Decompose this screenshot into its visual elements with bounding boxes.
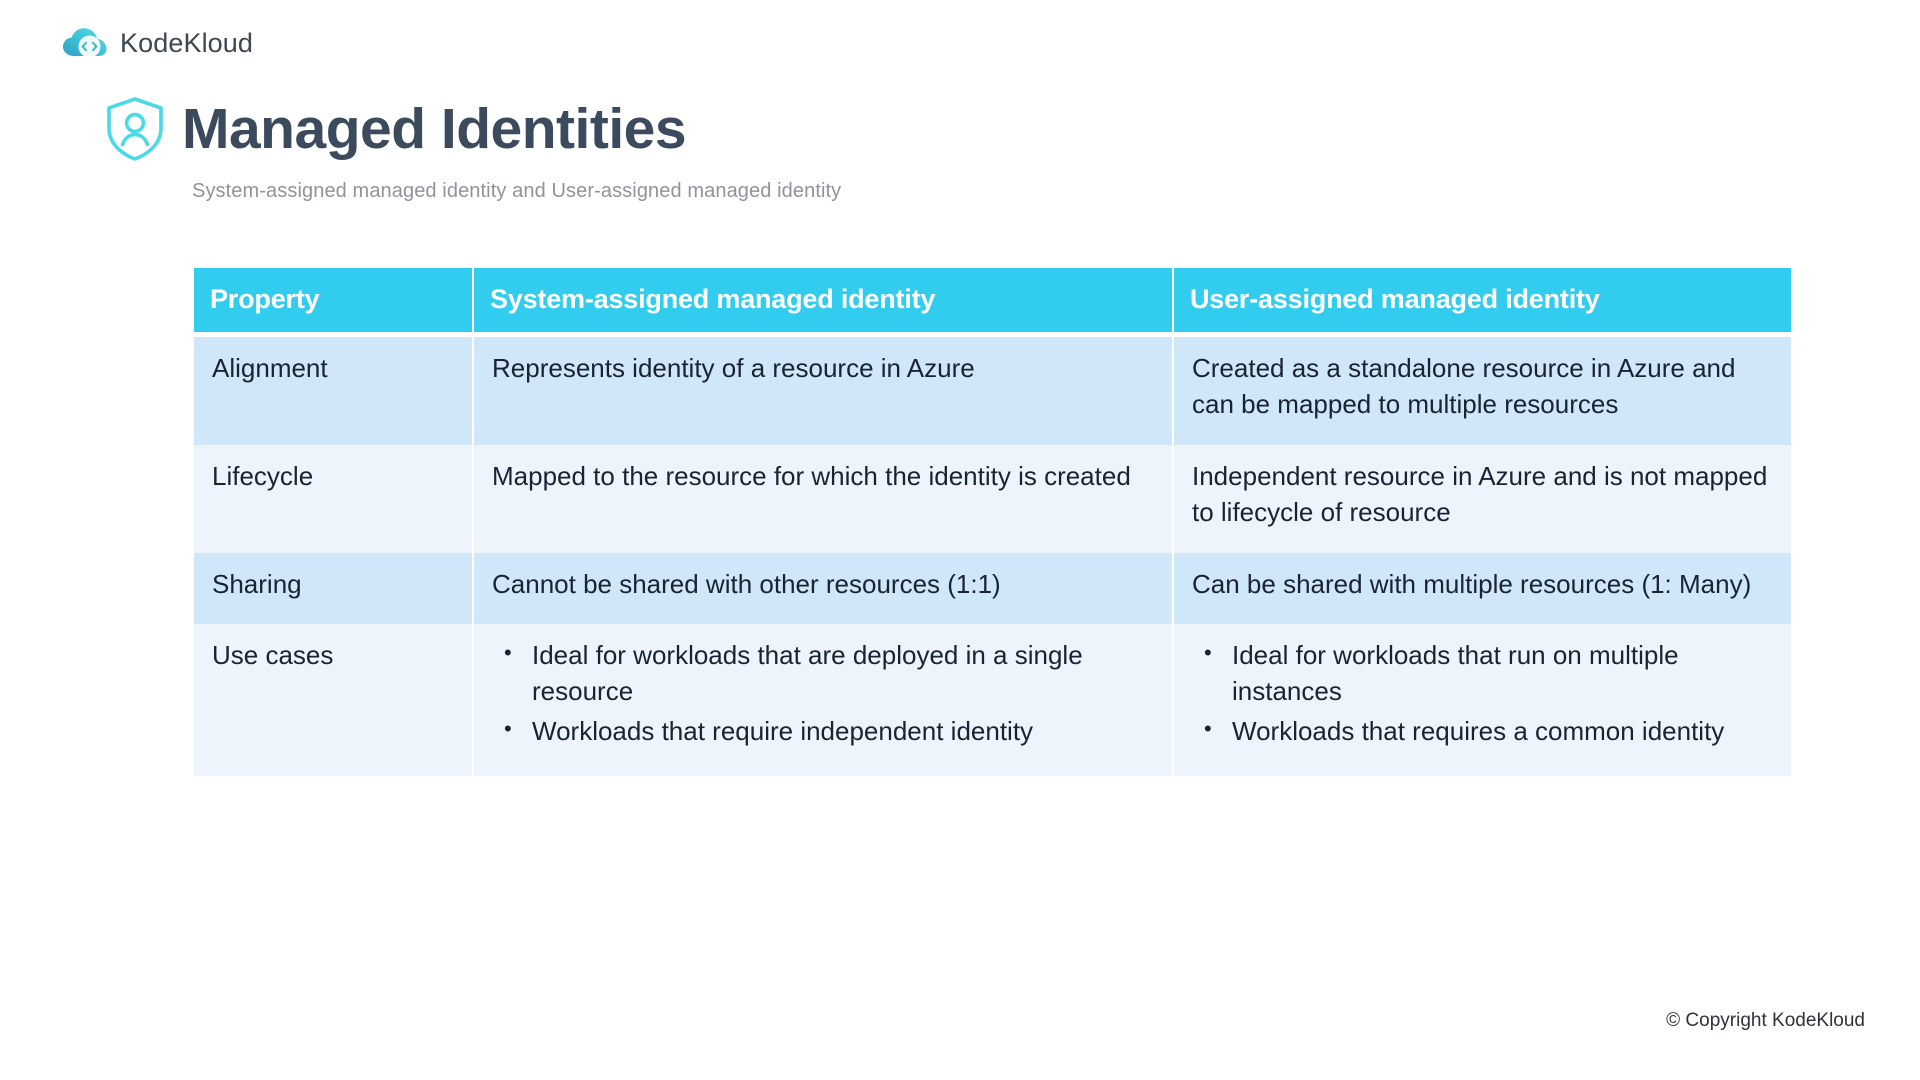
cell-system-assigned: Ideal for workloads that are deployed in… (474, 624, 1174, 776)
page-title: Managed Identities (182, 101, 686, 158)
table-header: Property System-assigned managed identit… (194, 268, 1791, 332)
footer-copyright: © Copyright KodeKloud (1666, 1010, 1865, 1032)
bullet-list: Ideal for workloads that run on multiple… (1192, 638, 1773, 750)
kodekloud-cloud-code-logo-icon (62, 26, 108, 60)
bullet-list: Ideal for workloads that are deployed in… (492, 638, 1154, 750)
column-header-user-assigned: User-assigned managed identity (1174, 268, 1791, 332)
table-row: Alignment Represents identity of a resou… (194, 337, 1791, 445)
cell-system-assigned: Represents identity of a resource in Azu… (474, 337, 1174, 445)
column-header-system-assigned: System-assigned managed identity (474, 268, 1174, 332)
brand-logo: KodeKloud (62, 26, 253, 60)
cell-property: Lifecycle (194, 445, 474, 553)
cell-property: Alignment (194, 337, 474, 445)
table-row: Use cases Ideal for workloads that are d… (194, 624, 1791, 776)
brand-name: KodeKloud (120, 30, 253, 57)
cell-user-assigned: Independent resource in Azure and is not… (1174, 445, 1791, 553)
list-item: Ideal for workloads that run on multiple… (1226, 638, 1773, 710)
cell-user-assigned: Can be shared with multiple resources (1… (1174, 553, 1791, 625)
page-subtitle: System-assigned managed identity and Use… (192, 180, 841, 203)
list-item: Workloads that requires a common identit… (1226, 714, 1773, 750)
managed-identities-comparison-table: Property System-assigned managed identit… (194, 268, 1791, 776)
table-header-row: Property System-assigned managed identit… (194, 268, 1791, 332)
column-header-property: Property (194, 268, 474, 332)
cell-property: Use cases (194, 624, 474, 776)
cell-user-assigned: Ideal for workloads that run on multiple… (1174, 624, 1791, 776)
shield-user-identity-icon (104, 96, 166, 162)
table-row: Lifecycle Mapped to the resource for whi… (194, 445, 1791, 553)
page-title-row: Managed Identities (104, 96, 686, 162)
table-row: Sharing Cannot be shared with other reso… (194, 553, 1791, 625)
list-item: Ideal for workloads that are deployed in… (526, 638, 1154, 710)
cell-property: Sharing (194, 553, 474, 625)
list-item: Workloads that require independent ident… (526, 714, 1154, 750)
table-body: Alignment Represents identity of a resou… (194, 332, 1791, 776)
cell-system-assigned: Mapped to the resource for which the ide… (474, 445, 1174, 553)
cell-system-assigned: Cannot be shared with other resources (1… (474, 553, 1174, 625)
cell-user-assigned: Created as a standalone resource in Azur… (1174, 337, 1791, 445)
